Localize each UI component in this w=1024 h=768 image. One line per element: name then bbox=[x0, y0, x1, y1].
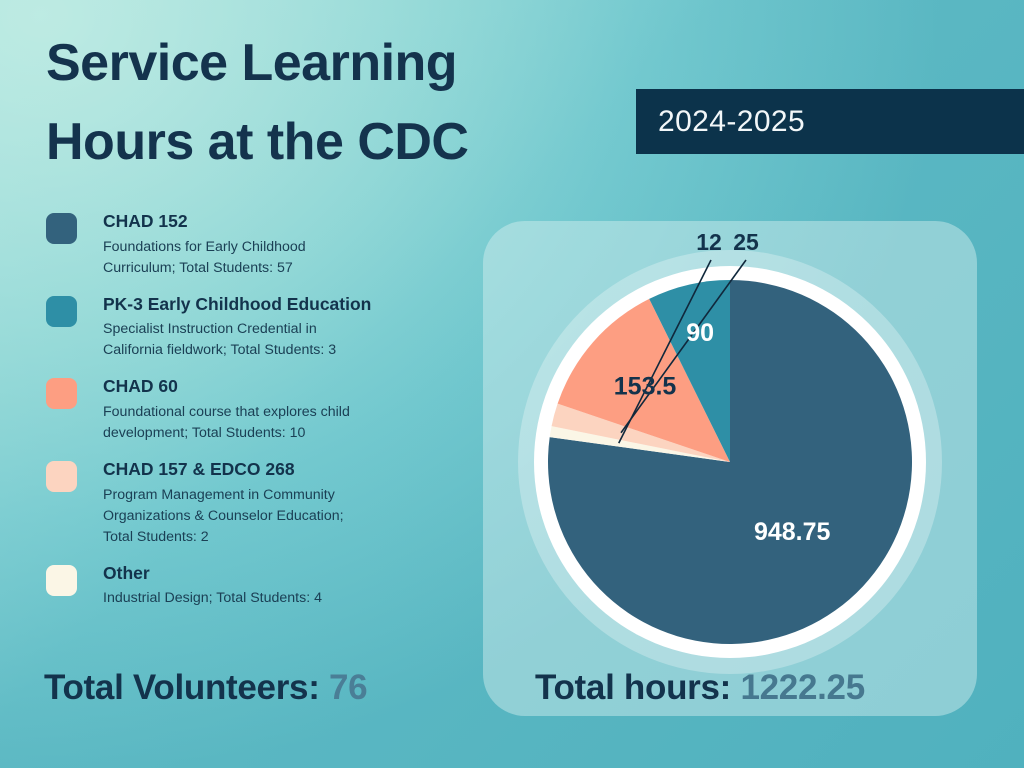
legend-swatch-icon bbox=[46, 296, 77, 327]
total-hours: Total hours: 1222.25 bbox=[535, 668, 865, 708]
legend-item-label: Other bbox=[103, 562, 466, 586]
legend-item-other: Other Industrial Design; Total Students:… bbox=[46, 562, 466, 610]
page-title-line-1: Service Learning bbox=[46, 24, 606, 103]
total-volunteers-label: Total Volunteers: bbox=[44, 668, 320, 707]
total-volunteers-value: 76 bbox=[329, 668, 367, 707]
year-badge-label: 2024-2025 bbox=[658, 105, 805, 139]
legend-item-description: Program Management in Community Organiza… bbox=[103, 485, 466, 548]
legend-swatch-icon bbox=[46, 213, 77, 244]
legend-item-chad-60: CHAD 60 Foundational course that explore… bbox=[46, 375, 466, 444]
legend-item-label: PK-3 Early Childhood Education bbox=[103, 293, 466, 317]
chart-card bbox=[483, 221, 977, 716]
legend-item-chad-152: CHAD 152 Foundations for Early Childhood… bbox=[46, 210, 466, 279]
legend-item-pk-3-early-childhood-education: PK-3 Early Childhood Education Specialis… bbox=[46, 293, 466, 362]
legend-swatch-icon bbox=[46, 565, 77, 596]
legend-item-description: Foundations for Early Childhood Curricul… bbox=[103, 237, 466, 279]
page-title-line-2: Hours at the CDC bbox=[46, 103, 606, 182]
legend-swatch-icon bbox=[46, 378, 77, 409]
page-title: Service Learning Hours at the CDC bbox=[46, 24, 606, 182]
legend: CHAD 152 Foundations for Early Childhood… bbox=[46, 210, 466, 623]
legend-item-description: Specialist Instruction Credential in Cal… bbox=[103, 319, 466, 361]
legend-item-label: CHAD 152 bbox=[103, 210, 466, 234]
legend-item-label: CHAD 157 & EDCO 268 bbox=[103, 458, 466, 482]
total-hours-label: Total hours: bbox=[535, 668, 731, 707]
total-volunteers: Total Volunteers: 76 bbox=[44, 668, 367, 708]
legend-item-chad-157-edco-268: CHAD 157 & EDCO 268 Program Management i… bbox=[46, 458, 466, 548]
year-badge: 2024-2025 bbox=[636, 89, 1024, 154]
infographic-poster: Service Learning Hours at the CDC 2024-2… bbox=[0, 0, 1024, 768]
total-hours-value: 1222.25 bbox=[740, 668, 864, 707]
legend-swatch-icon bbox=[46, 461, 77, 492]
legend-item-label: CHAD 60 bbox=[103, 375, 466, 399]
legend-item-description: Industrial Design; Total Students: 4 bbox=[103, 588, 466, 609]
legend-item-description: Foundational course that explores child … bbox=[103, 402, 466, 444]
